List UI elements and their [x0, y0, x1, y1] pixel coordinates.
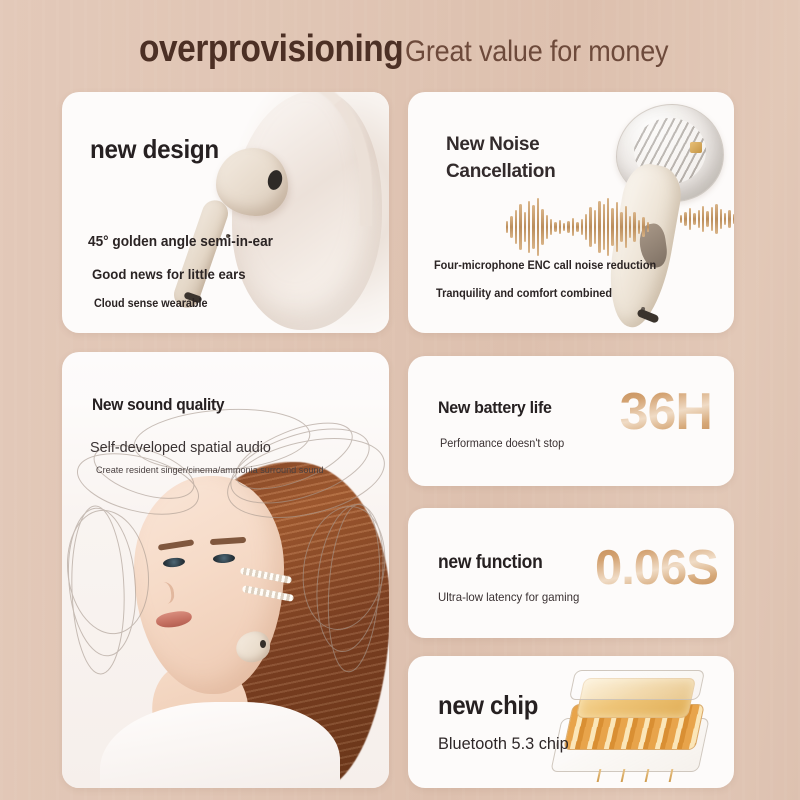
earbud-gold-contact-icon [690, 142, 702, 153]
card-title-new-design: new design [90, 134, 219, 165]
waveform-bar [620, 212, 622, 242]
waveform-bar [585, 214, 587, 240]
waveform-bar [567, 221, 569, 233]
function-feature-line: Ultra-low latency for gaming [438, 590, 579, 604]
waveform-bar [711, 207, 713, 231]
anc-feature-line-2: Tranquility and comfort combined [436, 288, 612, 300]
waveform-bar [572, 218, 574, 236]
waveform-bar [689, 208, 691, 230]
waveform-bar [625, 206, 627, 248]
card-new-function[interactable]: new function Ultra-low latency for gamin… [408, 508, 734, 638]
waveform-bar [706, 211, 708, 227]
waveform-bar [633, 212, 635, 242]
waveform-bar [510, 216, 512, 238]
waveform-bar [638, 220, 640, 234]
waveform-bar [715, 204, 717, 234]
waveform-bar [611, 208, 613, 246]
waveform-bar [576, 222, 578, 232]
waveform-bar [733, 214, 734, 224]
waveform-bar [559, 220, 561, 234]
bluetooth-chip-photo [540, 668, 730, 786]
waveform-bar [589, 207, 591, 247]
waveform-bar [616, 202, 618, 252]
latency-value: 0.06S [595, 540, 718, 596]
waveform-bar [720, 209, 722, 229]
waveform-bar [642, 217, 644, 237]
card-title-sound-quality: New sound quality [92, 396, 224, 415]
anc-feature-line-1: Four-microphone ENC call noise reduction [434, 260, 656, 272]
waveform-bar [724, 213, 726, 225]
battery-life-value: 36H [620, 382, 712, 442]
waveform-bar [581, 219, 583, 235]
waveform-bar [546, 215, 548, 239]
card-title-new-function: new function [438, 552, 542, 574]
waveform-bar [541, 209, 543, 245]
card-title-noise-cancellation: New Noise Cancellation [446, 132, 606, 186]
card-new-design[interactable]: new design 45° golden angle semi-in-ear … [62, 92, 389, 333]
card-noise-cancellation[interactable]: New Noise Cancellation Four-microphone E… [408, 92, 734, 333]
card-sound-quality[interactable]: New sound quality Self-developed spatial… [62, 352, 389, 788]
woman-wearing-earbud-photo [62, 400, 389, 788]
sound-feature-line-1: Self-developed spatial audio [90, 439, 271, 456]
waveform-small-icon [680, 204, 734, 234]
card-title-new-chip: new chip [438, 690, 538, 721]
page-title: overprovisioning [139, 28, 403, 71]
waveform-bar [698, 210, 700, 228]
infographic-page: overprovisioningGreat value for money ne… [0, 0, 800, 800]
waveform-large-icon [506, 198, 649, 256]
waveform-bar [728, 210, 730, 228]
waveform-bar [554, 222, 556, 232]
waveform-bar [519, 204, 521, 250]
card-battery-life[interactable]: New battery life Performance doesn't sto… [408, 356, 734, 486]
battery-feature-line: Performance doesn't stop [440, 438, 564, 450]
waveform-bar [537, 198, 539, 256]
waveform-bar [603, 204, 605, 250]
earbud-stem [170, 197, 231, 311]
waveform-bar [598, 201, 600, 253]
design-feature-line-3: Cloud sense wearable [94, 298, 208, 310]
waveform-bar [647, 222, 649, 232]
waveform-bar [515, 210, 517, 244]
waveform-bar [506, 221, 508, 233]
waveform-bar [629, 216, 631, 238]
page-subtitle: Great value for money [405, 35, 668, 69]
waveform-bar [594, 210, 596, 244]
waveform-bar [532, 205, 534, 249]
waveform-bar [693, 213, 695, 225]
chip-feature-line: Bluetooth 5.3 chip [438, 734, 569, 754]
waveform-bar [550, 219, 552, 235]
sound-feature-line-2: Create resident singer/cinema/ammonia su… [96, 465, 324, 476]
waveform-bar [702, 206, 704, 232]
card-title-battery-life: New battery life [438, 398, 552, 418]
waveform-bar [563, 223, 565, 231]
page-header: overprovisioningGreat value for money [0, 28, 800, 71]
chip-glass-cover [569, 670, 705, 700]
waveform-bar [684, 212, 686, 226]
card-new-chip[interactable]: new chip Bluetooth 5.3 chip [408, 656, 734, 788]
earbud-in-ear-photo [180, 92, 389, 333]
design-feature-line-1: 45° golden angle semi-in-ear [88, 234, 273, 250]
model-worn-earbud-dot-icon [260, 640, 266, 648]
design-feature-line-2: Good news for little ears [92, 266, 246, 282]
waveform-bar [524, 212, 526, 242]
waveform-bar [680, 215, 682, 223]
waveform-bar [528, 201, 530, 253]
waveform-bar [607, 198, 609, 256]
